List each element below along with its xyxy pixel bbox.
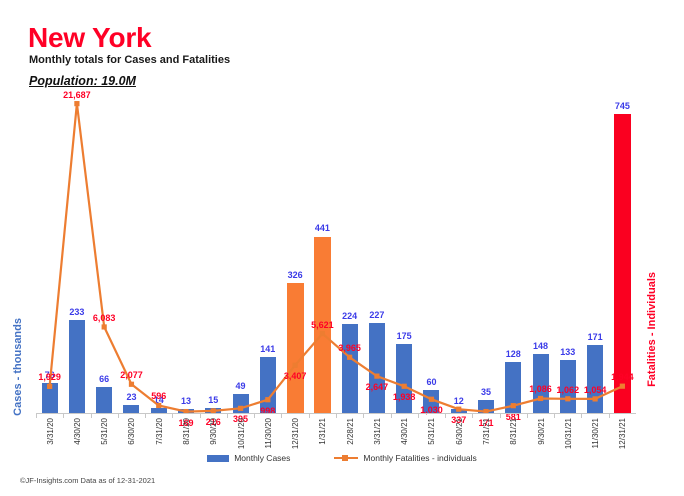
- x-axis-label: 5/31/20: [100, 418, 109, 445]
- x-axis-label: 11/30/21: [591, 418, 600, 449]
- x-axis-label: 9/30/21: [537, 418, 546, 445]
- x-axis-label: 12/31/21: [618, 418, 627, 449]
- x-axis-label: 7/31/20: [155, 418, 164, 445]
- fatality-value-label: 1,054: [584, 385, 607, 395]
- x-axis-label: 12/31/20: [291, 418, 300, 449]
- x-axis-label: 8/31/21: [509, 418, 518, 445]
- x-axis-label: 2/28/21: [346, 418, 355, 445]
- x-axis-label: 10/31/21: [564, 418, 573, 449]
- page-subtitle: Monthly totals for Cases and Fatalities: [29, 54, 230, 66]
- chart-legend: Monthly Cases Monthly Fatalities - indiv…: [0, 453, 684, 463]
- x-axis-label: 8/31/20: [182, 418, 191, 445]
- fatality-value-label: 1,062: [557, 385, 580, 395]
- plot-area: 7623366231413154914132644122422717560123…: [36, 92, 636, 414]
- y-axis-right-title: Fatalities - Individuals: [646, 272, 658, 387]
- x-axis-label: 6/30/21: [455, 418, 464, 445]
- x-axis-label: 4/30/21: [400, 418, 409, 445]
- bar-swatch-icon: [207, 455, 229, 462]
- fatality-value-label: 3,965: [338, 343, 361, 353]
- legend-label-cases: Monthly Cases: [234, 453, 290, 463]
- fatality-value-label: 596: [151, 391, 166, 401]
- x-axis-label: 3/31/21: [373, 418, 382, 445]
- fatality-value-label: 2,647: [366, 382, 389, 392]
- legend-item-fatalities[interactable]: Monthly Fatalities - individuals: [334, 453, 476, 463]
- fatality-value-label: 998: [260, 406, 275, 416]
- y-axis-left-title: Cases - thousands: [12, 318, 24, 416]
- fatality-value-label: 1,944: [611, 372, 634, 382]
- fatality-value-label: 1,086: [529, 384, 552, 394]
- legend-item-cases[interactable]: Monthly Cases: [207, 453, 290, 463]
- fatality-value-label: 6,083: [93, 313, 116, 323]
- x-axis-label: 1/31/21: [318, 418, 327, 445]
- population-label: Population: 19.0M: [29, 74, 136, 88]
- x-axis-label: 7/31/21: [482, 418, 491, 445]
- fatality-value-label: 2,077: [120, 370, 143, 380]
- fatality-value-label: 5,621: [311, 320, 334, 330]
- x-axis-label: 10/31/20: [237, 418, 246, 449]
- fatalities-labels: 1,92921,6876,0832,0775961692163959983,40…: [36, 92, 636, 414]
- fatality-value-label: 21,687: [63, 90, 91, 100]
- x-axis-label: 11/30/20: [264, 418, 273, 449]
- x-axis-label: 3/31/20: [46, 418, 55, 445]
- footer-credit: ©JF-Insights.com Data as of 12-31-2021: [20, 476, 155, 485]
- x-axis-label: 9/30/20: [209, 418, 218, 445]
- x-axis-label: 5/31/21: [427, 418, 436, 445]
- x-axis-label: 4/30/20: [73, 418, 82, 445]
- chart-page: New York Monthly totals for Cases and Fa…: [0, 0, 684, 496]
- fatality-value-label: 3,407: [284, 371, 307, 381]
- legend-label-fatalities: Monthly Fatalities - individuals: [363, 453, 476, 463]
- fatality-value-label: 1,938: [393, 392, 416, 402]
- line-swatch-icon: [334, 454, 358, 462]
- x-axis-label: 6/30/20: [127, 418, 136, 445]
- page-title: New York: [28, 22, 151, 54]
- fatality-value-label: 1,929: [38, 372, 61, 382]
